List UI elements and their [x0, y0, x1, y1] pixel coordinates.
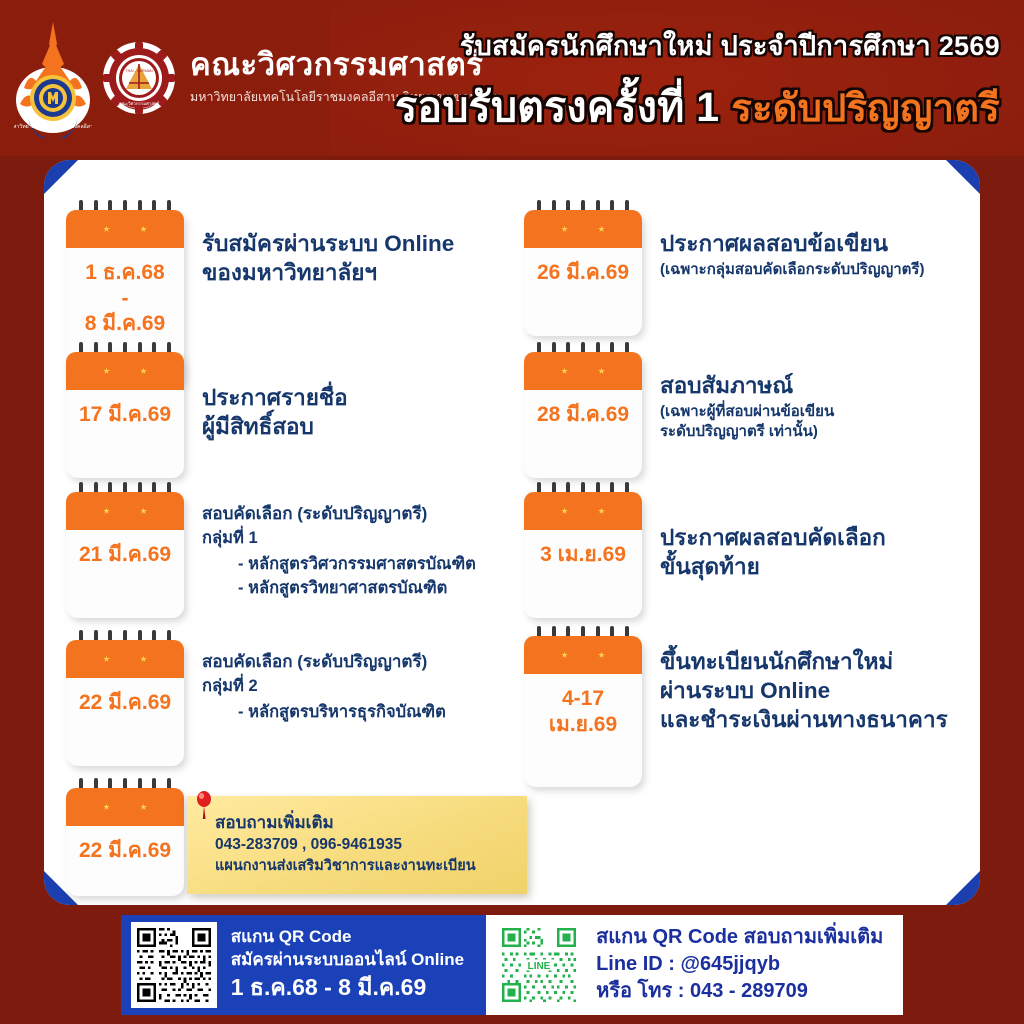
- application-period: 1 ธ.ค.68 - 8 มี.ค.69: [231, 973, 464, 1003]
- contact-phones: 043-283709 , 096-9461935: [215, 834, 511, 856]
- event-title: ประกาศรายชื่อ ผู้มีสิทธิ์สอบ: [202, 384, 348, 442]
- event-date: 17 มี.ค.69: [70, 402, 180, 428]
- event-text: ประกาศรายชื่อ ผู้มีสิทธิ์สอบ: [184, 342, 348, 442]
- university-emblem-icon: มหาวิทยาลัยเทคโนโลยีราชมงคลอีสาน: [14, 18, 92, 138]
- push-pin-icon: [195, 790, 213, 820]
- timeline-row: 28 มี.ค.69 สอบสัมภาษณ์ (เฉพาะผู้ที่สอบผ่…: [524, 342, 834, 478]
- calendar-header: [66, 352, 184, 390]
- calendar-header: [524, 352, 642, 390]
- event-title: ประกาศผลสอบข้อเขียน: [660, 230, 924, 259]
- line-qr-code-icon[interactable]: LINE: [496, 922, 582, 1008]
- calendar-header: [66, 788, 184, 826]
- event-note: (เฉพาะกลุ่มสอบคัดเลือกระดับปริญญาตรี): [660, 260, 924, 280]
- qr-code-icon[interactable]: [131, 922, 217, 1008]
- event-text: สอบสัมภาษณ์ (เฉพาะผู้ที่สอบผ่านข้อเขียน …: [642, 342, 834, 441]
- event-date: 22 มี.ค.69: [70, 838, 180, 864]
- event-text: รับสมัครผ่านระบบ Online ของมหาวิทยาลัยฯ: [184, 200, 454, 288]
- faculty-seal-icon: THAI - GERMAN คณะวิศวกรรมศาสตร์: [102, 41, 176, 115]
- page-subtitle: รอบรับตรงครั้งที่ 1 ระดับปริญญาตรี: [395, 75, 1000, 140]
- contact-department: แผนกงานส่งเสริมวิชาการและงานทะเบียน: [215, 856, 511, 877]
- timeline-row: 4-17 เม.ย.69 ขึ้นทะเบียนนักศึกษาใหม่ ผ่า…: [524, 626, 948, 787]
- page-header: มหาวิทยาลัยเทคโนโลยีราชมงคลอีสาน: [0, 0, 1024, 156]
- event-title: ประกาศผลสอบคัดเลือก ขั้นสุดท้าย: [660, 524, 886, 582]
- contact-sticky-note: สอบถามเพิ่มเติม 043-283709 , 096-9461935…: [187, 796, 527, 894]
- timeline-row: 21 มี.ค.69 สอบคัดเลือก (ระดับปริญญาตรี) …: [66, 482, 476, 618]
- event-title: ขึ้นทะเบียนนักศึกษาใหม่ ผ่านระบบ Online …: [660, 648, 948, 734]
- calendar-header: [66, 210, 184, 248]
- calendar-header: [66, 492, 184, 530]
- calendar-icon: 21 มี.ค.69: [66, 492, 184, 618]
- calendar-body: 26 มี.ค.69: [524, 248, 642, 290]
- event-date: 22 มี.ค.69: [70, 690, 180, 716]
- event-text: ประกาศผลสอบข้อเขียน (เฉพาะกลุ่มสอบคัดเลื…: [642, 200, 924, 280]
- calendar-header: [66, 640, 184, 678]
- scan-label: สแกน QR Code: [231, 926, 464, 949]
- timeline-row: 3 เม.ย.69 ประกาศผลสอบคัดเลือก ขั้นสุดท้า…: [524, 482, 886, 618]
- apply-online-label: สมัครผ่านระบบออนไลน์ Online: [231, 949, 464, 972]
- event-date: 4-17 เม.ย.69: [528, 686, 638, 737]
- line-id: Line ID : @645jjqyb: [596, 951, 883, 978]
- contact-heading: สอบถามเพิ่มเติม: [215, 812, 511, 834]
- degree-level-label: ระดับปริญญาตรี: [731, 77, 1000, 138]
- event-title: สอบคัดเลือก (ระดับปริญญาตรี): [202, 651, 446, 673]
- event-date: 1 ธ.ค.68 - 8 มี.ค.69: [70, 260, 180, 337]
- page-footer: สแกน QR Code สมัครผ่านระบบออนไลน์ Online…: [0, 905, 1024, 1024]
- event-group-label: กลุ่มที่ 1: [202, 527, 476, 549]
- header-title-block: รับสมัครนักศึกษาใหม่ ประจำปีการศึกษา 256…: [395, 24, 1000, 140]
- calendar-body: 1 ธ.ค.68 - 8 มี.ค.69: [66, 248, 184, 341]
- event-date: 26 มี.ค.69: [528, 260, 638, 286]
- event-text: สอบคัดเลือก (ระดับปริญญาตรี) กลุ่มที่ 2 …: [184, 630, 446, 725]
- calendar-body: 28 มี.ค.69: [524, 390, 642, 432]
- event-text: สอบคัดเลือก (ระดับปริญญาตรี) กลุ่มที่ 1 …: [184, 482, 476, 601]
- event-program-list: - หลักสูตรวิศวกรรมศาสตรบัณฑิต - หลักสูตร…: [202, 553, 476, 601]
- scan-inquiry-label: สแกน QR Code สอบถามเพิ่มเติม: [596, 924, 883, 951]
- calendar-body: 22 มี.ค.69: [66, 678, 184, 720]
- svg-text:LINE: LINE: [528, 960, 551, 971]
- calendar-icon: 26 มี.ค.69: [524, 210, 642, 336]
- calendar-body: 3 เม.ย.69: [524, 530, 642, 572]
- line-qr-text: สแกน QR Code สอบถามเพิ่มเติม Line ID : @…: [596, 924, 883, 1004]
- calendar-header: [524, 210, 642, 248]
- calendar-icon: 3 เม.ย.69: [524, 492, 642, 618]
- calendar-icon: 17 มี.ค.69: [66, 352, 184, 478]
- list-item: - หลักสูตรวิทยาศาสตรบัณฑิต: [238, 577, 476, 601]
- calendar-icon: 22 มี.ค.69: [66, 640, 184, 766]
- event-date: 28 มี.ค.69: [528, 402, 638, 428]
- svg-text:มหาวิทยาลัยเทคโนโลยีราชมงคลอีส: มหาวิทยาลัยเทคโนโลยีราชมงคลอีสาน: [14, 123, 92, 130]
- event-title: สอบคัดเลือก (ระดับปริญญาตรี): [202, 503, 476, 525]
- apply-qr-text: สแกน QR Code สมัครผ่านระบบออนไลน์ Online…: [231, 926, 464, 1003]
- page-title: รับสมัครนักศึกษาใหม่ ประจำปีการศึกษา 256…: [395, 24, 1000, 67]
- list-item: - หลักสูตรวิศวกรรมศาสตรบัณฑิต: [238, 553, 476, 577]
- line-qr-panel[interactable]: LINE สแกน QR Code สอบถามเพิ่มเติม Line I…: [486, 915, 903, 1015]
- event-note: (เฉพาะผู้ที่สอบผ่านข้อเขียน ระดับปริญญาต…: [660, 402, 834, 442]
- event-program-list: - หลักสูตรบริหารธุรกิจบัณฑิต: [202, 701, 446, 725]
- event-date: 21 มี.ค.69: [70, 542, 180, 568]
- event-title: สอบสัมภาษณ์: [660, 372, 834, 401]
- calendar-header: [524, 636, 642, 674]
- calendar-header: [524, 492, 642, 530]
- calendar-icon: 28 มี.ค.69: [524, 352, 642, 478]
- schedule-card: 1 ธ.ค.68 - 8 มี.ค.69 รับสมัครผ่านระบบ On…: [44, 160, 980, 905]
- timeline-row: 26 มี.ค.69 ประกาศผลสอบข้อเขียน (เฉพาะกลุ…: [524, 200, 924, 336]
- svg-text:THAI - GERMAN: THAI - GERMAN: [125, 69, 153, 73]
- timeline-row: 22 มี.ค.69 สอบคัดเลือก (ระดับปริญญาตรี) …: [66, 630, 446, 766]
- timeline-row: 17 มี.ค.69 ประกาศรายชื่อ ผู้มีสิทธิ์สอบ: [66, 342, 348, 478]
- apply-qr-panel[interactable]: สแกน QR Code สมัครผ่านระบบออนไลน์ Online…: [121, 915, 486, 1015]
- event-title: รับสมัครผ่านระบบ Online ของมหาวิทยาลัยฯ: [202, 230, 454, 288]
- calendar-icon: 22 มี.ค.69: [66, 788, 184, 896]
- calendar-body: 4-17 เม.ย.69: [524, 674, 642, 741]
- event-group-label: กลุ่มที่ 2: [202, 675, 446, 697]
- svg-text:คณะวิศวกรรมศาสตร์: คณะวิศวกรรมศาสตร์: [119, 101, 160, 106]
- calendar-body: 22 มี.ค.69: [66, 826, 184, 868]
- round-label: รอบรับตรงครั้งที่ 1: [395, 75, 719, 140]
- event-text: ประกาศผลสอบคัดเลือก ขั้นสุดท้าย: [642, 482, 886, 582]
- calendar-body: 17 มี.ค.69: [66, 390, 184, 432]
- event-text: ขึ้นทะเบียนนักศึกษาใหม่ ผ่านระบบ Online …: [642, 626, 948, 734]
- phone-number: หรือ โทร : 043 - 289709: [596, 978, 883, 1005]
- calendar-icon: 4-17 เม.ย.69: [524, 636, 642, 787]
- event-date: 3 เม.ย.69: [528, 542, 638, 568]
- list-item: - หลักสูตรบริหารธุรกิจบัณฑิต: [238, 701, 446, 725]
- calendar-body: 21 มี.ค.69: [66, 530, 184, 572]
